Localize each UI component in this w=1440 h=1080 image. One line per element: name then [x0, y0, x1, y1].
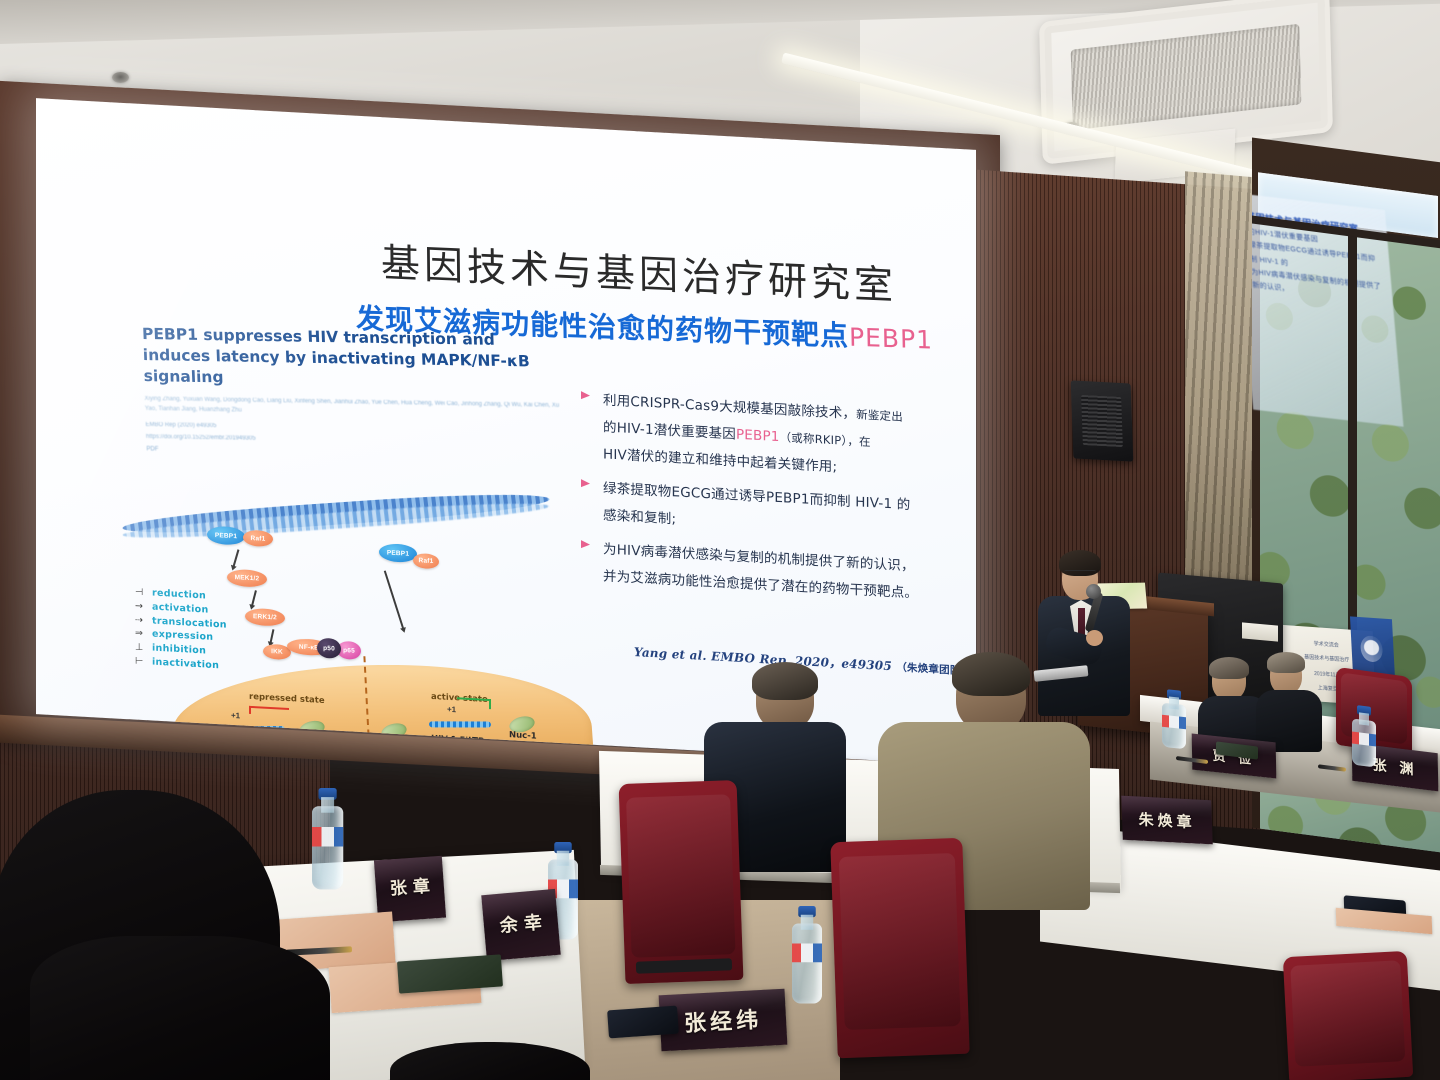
ceiling-speaker [1071, 380, 1134, 461]
bullet-2-line2: 感染和复制; [603, 507, 676, 527]
diagram-arrow [251, 590, 257, 606]
bullet-item: 利用CRISPR-Cas9大规模基因敲除技术，新鉴定出 的HIV-1潜伏重要基因… [581, 386, 966, 488]
glasses-icon [1064, 570, 1096, 577]
bullet-marker-icon [581, 479, 590, 487]
legend-symbol: ⊥ [135, 641, 152, 656]
projection-screen: 基因技术与基因治疗研究室 发现艾滋病功能性治愈的药物干预靶点PEBP1 PEBP… [36, 98, 976, 766]
av-equipment-label [1242, 622, 1278, 641]
diagram-node: PEBP1 [379, 543, 417, 563]
paper-authors: Xiying Zhang, Yuxuan Wang, Dongdong Cao,… [144, 394, 560, 422]
placard-text: 张 章 [389, 879, 430, 900]
diagram-node: p50 [317, 638, 341, 659]
placard-text: 朱焕章 [1138, 808, 1196, 832]
ltr-bar-right [429, 721, 491, 727]
paper-title: PEBP1 suppresses HIV transcription and i… [142, 324, 559, 394]
attendee-hair [1209, 657, 1249, 679]
bullet-1-small1: 新鉴定出 [856, 407, 903, 424]
legend-label: inactivation [152, 656, 219, 671]
legend-label: reduction [152, 588, 206, 602]
presenter-hand [1086, 630, 1103, 646]
diagram-node: MEK1/2 [227, 569, 267, 588]
chair [830, 838, 969, 1058]
placard-text: 张 渊 [1372, 754, 1417, 780]
bullet-3-line2: 并为艾滋病功能性治愈提供了潜在的药物干预靶点。 [603, 568, 918, 601]
water-bottle[interactable] [312, 788, 343, 918]
attendee-hair [1267, 652, 1305, 673]
legend-symbol: ⊢ [135, 654, 152, 669]
placard-text: 张经纬 [683, 1002, 763, 1038]
conference-room-photo: 基因技术与基因治疗研究室 的HIV-1潜伏重要基因 绿茶提取物EGCG通过诱导P… [0, 0, 1440, 1080]
water-bottle[interactable] [1162, 689, 1186, 748]
bottle-label [792, 944, 822, 963]
bullet-marker-icon [581, 391, 590, 399]
chair [619, 780, 744, 984]
diagram-node: Raf1 [413, 553, 439, 569]
legend-symbol: ⊣ [135, 586, 152, 601]
legend-label: inhibition [152, 643, 206, 657]
bullet-1-pre: 利用CRISPR-Cas9大规模基因敲除技术， [603, 392, 856, 422]
legend-label: activation [152, 601, 209, 615]
diagram-arrow [233, 549, 240, 567]
bullet-2-pre: 绿茶提取物EGCG通过诱导PEBP1而抑制 HIV-1 的 [603, 480, 910, 513]
bullet-1-small2: （或称RKIP） [780, 430, 848, 448]
name-placard[interactable]: 余 幸 [481, 889, 560, 961]
nuc1-label-right: Nuc-1 [509, 730, 537, 742]
legend-symbol: → [135, 599, 152, 614]
legend-symbol: ⇒ [135, 627, 152, 642]
legend-label: expression [152, 629, 213, 643]
microphone-head [1086, 584, 1101, 599]
bullet-item: 为HIV病毒潜伏感染与复制的机制提供了新的认识， 并为艾滋病功能性治愈提供了潜在… [581, 535, 966, 610]
bullet-3-pre: 为HIV病毒潜伏感染与复制的机制提供了新的认识， [603, 541, 915, 574]
pathway-diagram: PEBP1 Raf1 MEK1/2 ERK1/2 IKK NF-κB PEBP1… [131, 433, 581, 738]
placard-text: 余 幸 [499, 914, 543, 937]
diagram-node: ERK1/2 [245, 608, 285, 627]
bottle-body [312, 806, 343, 889]
water-bottle[interactable] [792, 906, 822, 1026]
bullet-1-mid: 的HIV-1潜伏重要基因 [603, 419, 736, 442]
attendee-foreground-shoulders [30, 936, 330, 1080]
bullet-1-line3: HIV潜伏的建立和维持中起着关键作用; [603, 446, 837, 475]
downlight-icon [112, 72, 129, 83]
name-placard[interactable]: 朱焕章 [1121, 796, 1212, 845]
bullet-1-tail: ，在 [847, 434, 870, 449]
water-bottle[interactable] [1352, 705, 1376, 766]
activation-hook [457, 697, 491, 709]
bottle-label [1162, 715, 1186, 730]
smartphone[interactable] [607, 1006, 679, 1039]
diagram-legend: ⊣reduction →activation ⇢translocation ⇒e… [135, 586, 227, 674]
slide-subtitle-accent: PEBP1 [849, 323, 934, 355]
bottle-body [792, 924, 822, 1004]
tss-label-left: +1 [231, 711, 240, 721]
slide-bullets: 利用CRISPR-Cas9大规模基因敲除技术，新鉴定出 的HIV-1潜伏重要基因… [581, 386, 966, 617]
diagram-arrow-translocation [384, 571, 404, 630]
presentation-slide: 基因技术与基因治疗研究室 发现艾滋病功能性治愈的药物干预靶点PEBP1 PEBP… [36, 98, 976, 766]
attendee-far-right [1256, 656, 1326, 752]
tss-label-right: +1 [447, 705, 456, 715]
chair [1283, 951, 1413, 1080]
attendee-hair [952, 652, 1030, 696]
bullet-1-highlight: PEBP1 [736, 427, 780, 445]
bullet-marker-icon [581, 540, 590, 548]
legend-symbol: ⇢ [135, 613, 152, 628]
ac-grille [1071, 24, 1302, 130]
attendee-hair [752, 662, 818, 700]
bottle-label [312, 827, 343, 847]
diagram-arrow [270, 629, 275, 643]
